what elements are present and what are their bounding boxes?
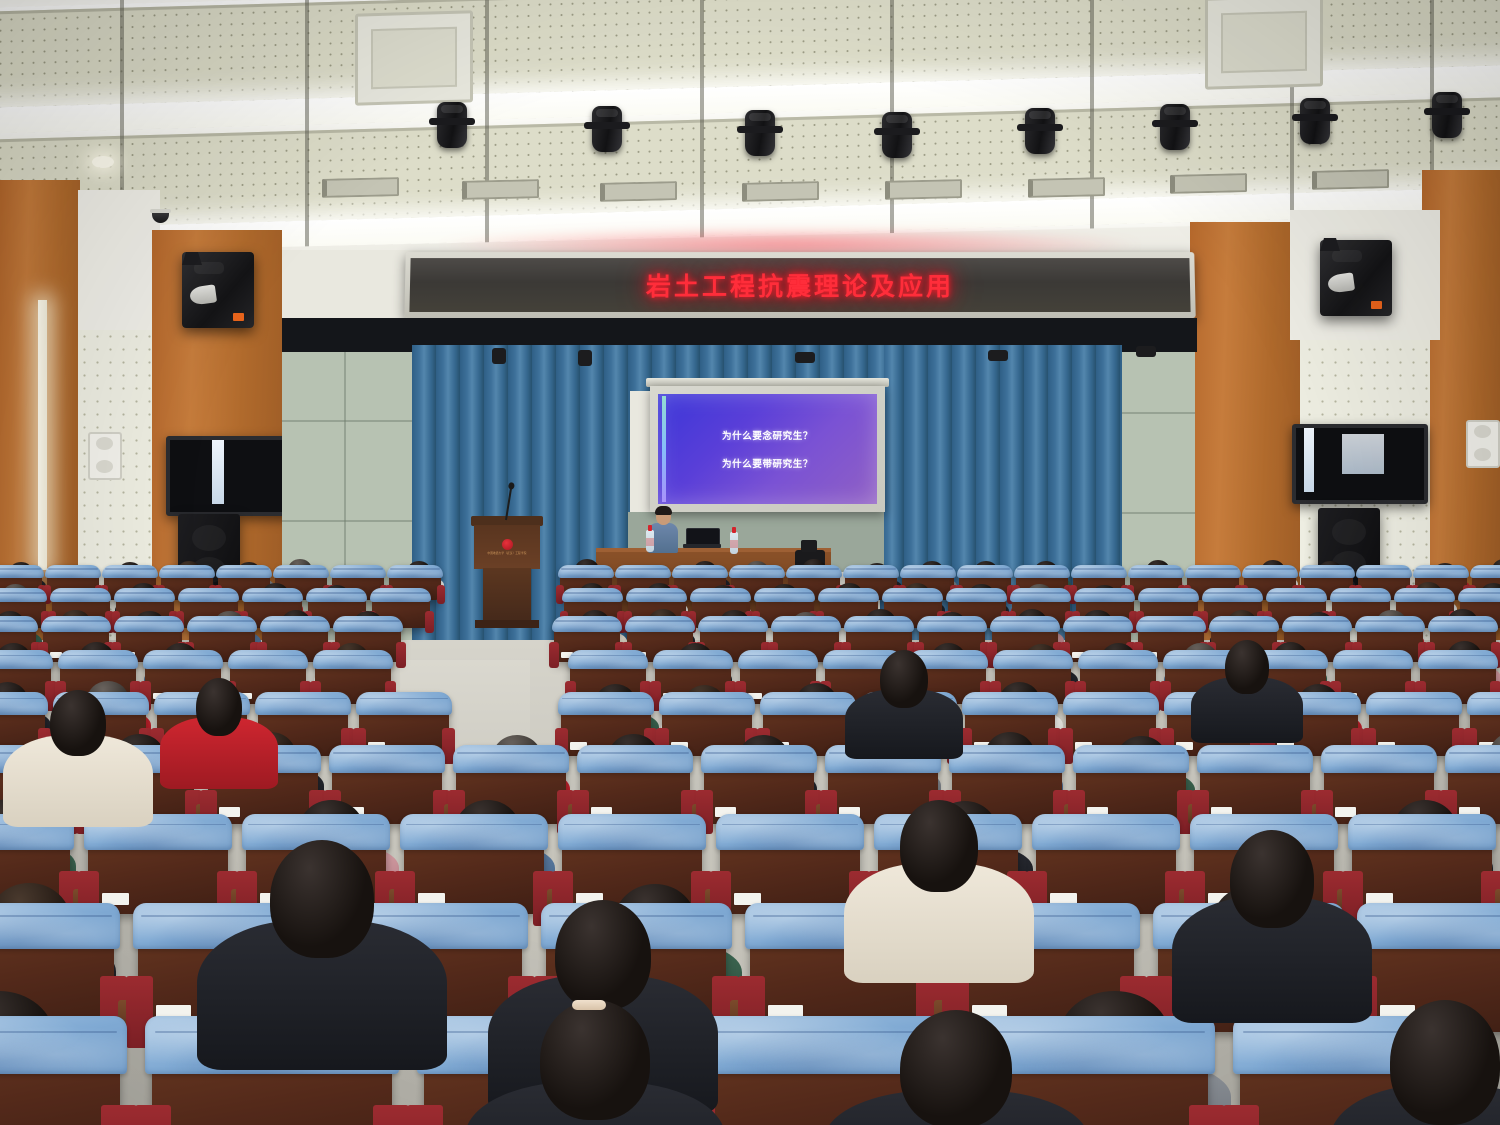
seat-headrest-cover <box>1418 650 1499 669</box>
seat-headrest-cover <box>1357 903 1500 949</box>
seat-headrest-cover <box>558 565 613 578</box>
seat-headrest-cover <box>577 745 694 773</box>
air-vent <box>1028 177 1105 198</box>
seat-headrest-cover <box>50 588 111 602</box>
seat-headrest-cover <box>255 692 350 715</box>
seat-headrest-cover <box>333 616 403 632</box>
curtain-rail-light <box>795 352 815 363</box>
seat-headrest-cover <box>387 565 442 578</box>
audience-member-foreground-head <box>540 1000 650 1120</box>
ceiling-grid-line <box>1090 0 1094 250</box>
seat-headrest-cover <box>1063 692 1158 715</box>
panel-seam <box>282 420 412 422</box>
audience-member-cream-coat-head <box>50 690 106 756</box>
seat-headrest-cover <box>771 616 841 632</box>
air-vent <box>600 181 677 202</box>
seat-headrest-cover <box>1128 565 1183 578</box>
stage-spotlight <box>1160 104 1190 150</box>
hair-clip <box>572 1000 606 1010</box>
seat-headrest-cover <box>41 616 111 632</box>
seat-headrest-cover <box>701 745 818 773</box>
podium-base <box>483 568 531 626</box>
ceiling-speaker-grille <box>1466 420 1500 468</box>
seat-headrest-cover <box>453 745 570 773</box>
monitor-screen-reflection <box>1304 428 1314 492</box>
seat-headrest-cover <box>178 588 239 602</box>
seat-headrest-cover <box>228 650 309 669</box>
ceiling-grid-line <box>305 0 309 250</box>
seat-headrest-cover <box>1467 692 1500 715</box>
seat-headrest-cover <box>356 692 451 715</box>
seat-headrest-cover <box>625 616 695 632</box>
vertical-light-strip <box>38 300 47 570</box>
jbl-logo-icon <box>1371 301 1382 309</box>
stage-spotlight <box>882 112 912 158</box>
seat-headrest-cover <box>273 565 328 578</box>
ac-cassette-icon <box>355 10 473 105</box>
ceiling-grid-line <box>700 0 704 250</box>
seat-headrest-cover <box>159 565 214 578</box>
seat-headrest-cover <box>1197 745 1314 773</box>
seat-headrest-cover <box>716 814 864 850</box>
audience-member-foreground-head <box>900 1010 1012 1125</box>
auditorium-seat[interactable] <box>404 818 544 914</box>
auditorium-seat[interactable] <box>88 818 228 914</box>
auditorium-seat[interactable] <box>1200 748 1310 824</box>
seat-headrest-cover <box>1010 588 1071 602</box>
seat-headrest-cover <box>844 616 914 632</box>
seat-side-upholstery <box>1189 1105 1225 1125</box>
stage-spotlight <box>437 102 467 148</box>
audience-member-foreground-head <box>1390 1000 1500 1125</box>
seat-headrest-cover <box>330 565 385 578</box>
ceiling-grid-line <box>485 0 489 250</box>
panel-seam <box>1120 412 1195 414</box>
air-vent <box>1312 169 1389 190</box>
seat-side-upholstery <box>396 642 406 668</box>
seat-headrest-cover <box>216 565 271 578</box>
podium: 中国地质大学（武汉）工程学院 <box>471 516 543 626</box>
auditorium-seat[interactable] <box>1036 818 1176 914</box>
seat-headrest-cover <box>1299 565 1354 578</box>
seat-headrest-cover <box>1242 565 1297 578</box>
slide-line-1: 为什么要念研究生？ <box>722 428 813 442</box>
seat-headrest-cover <box>917 616 987 632</box>
seat-headrest-cover <box>0 650 53 669</box>
seat-headrest-cover <box>1014 565 1069 578</box>
seat-headrest-cover <box>990 616 1060 632</box>
seat-headrest-cover <box>843 565 898 578</box>
presenter-laptop <box>683 528 721 548</box>
seat-headrest-cover <box>114 588 175 602</box>
panel-seam <box>1120 512 1195 514</box>
seat-headrest-cover <box>260 616 330 632</box>
jbl-speaker-right <box>1320 240 1392 316</box>
slide-line-2: 为什么要带研究生？ <box>722 456 813 470</box>
stage-spotlight <box>1025 108 1055 154</box>
podium-label: 中国地质大学（武汉）工程学院 <box>487 551 526 555</box>
curtain-rail-light <box>1136 346 1156 357</box>
seat-headrest-cover <box>1333 650 1414 669</box>
led-banner-panel: 岩土工程抗震理论及应用 <box>409 258 1190 312</box>
auditorium-seat[interactable] <box>1352 818 1492 914</box>
tripod-head <box>801 540 817 552</box>
seat-headrest-cover <box>690 588 751 602</box>
recessed-downlight <box>92 156 114 168</box>
seat-side-upholstery <box>135 1105 171 1125</box>
seat-headrest-cover <box>1458 588 1500 602</box>
seat-headrest-cover <box>946 588 1007 602</box>
seat-headrest-cover <box>672 565 727 578</box>
air-vent <box>322 177 399 198</box>
seat-headrest-cover <box>143 650 224 669</box>
seat-headrest-cover <box>1366 692 1461 715</box>
water-bottle <box>646 530 654 552</box>
seat-headrest-cover <box>562 588 623 602</box>
seat-headrest-cover <box>1063 616 1133 632</box>
seat-headrest-cover <box>1136 616 1206 632</box>
seat-headrest-cover <box>786 565 841 578</box>
auditorium-seat[interactable] <box>1448 748 1500 824</box>
seat-headrest-cover <box>1321 745 1438 773</box>
seat-side-upholstery <box>549 642 559 668</box>
air-vent <box>885 179 962 200</box>
seat-headrest-cover <box>313 650 394 669</box>
seat-headrest-cover <box>957 565 1012 578</box>
seat-headrest-cover <box>962 692 1057 715</box>
seat-headrest-cover <box>900 565 955 578</box>
auditorium-seat[interactable] <box>0 1022 120 1125</box>
audience-member-foreground-head <box>270 840 374 958</box>
podium-front-panel: 中国地质大学（武汉）工程学院 <box>474 525 540 569</box>
seat-headrest-cover <box>0 616 38 632</box>
audience-member-head <box>1225 640 1269 694</box>
led-banner-text: 岩土工程抗震理论及应用 <box>646 267 954 303</box>
speaker-horn <box>189 284 217 305</box>
audience-member-foreground-head <box>555 900 651 1010</box>
seat-headrest-cover <box>993 650 1074 669</box>
air-vent <box>1170 173 1247 194</box>
projected-slide: 为什么要念研究生？ 为什么要带研究生？ <box>658 394 877 504</box>
seat-headrest-cover <box>242 588 303 602</box>
seat-headrest-cover <box>1428 616 1498 632</box>
air-vent <box>742 181 819 202</box>
seat-side-upholstery <box>437 585 445 605</box>
seat-headrest-cover <box>1032 814 1180 850</box>
podium-foot <box>475 620 539 628</box>
seat-headrest-cover <box>0 588 47 602</box>
curtain-rail-light <box>578 350 592 366</box>
seat-headrest-cover <box>1355 616 1425 632</box>
seat-side-upholstery <box>1223 1105 1259 1125</box>
seat-headrest-cover <box>0 903 120 949</box>
wall-monitor-right[interactable] <box>1292 424 1428 504</box>
seat-headrest-cover <box>1470 565 1500 578</box>
seat-headrest-cover <box>1073 745 1190 773</box>
seat-headrest-cover <box>1356 565 1411 578</box>
seat-headrest-cover <box>659 692 754 715</box>
seat-headrest-cover <box>45 565 100 578</box>
seat-headrest-cover <box>1348 814 1496 850</box>
seat-headrest-cover <box>558 692 653 715</box>
institution-emblem-icon <box>502 539 513 550</box>
seat-headrest-cover <box>1185 565 1240 578</box>
seat-headrest-cover <box>400 814 548 850</box>
audience-member-red-hoodie-head <box>196 678 242 736</box>
seat-headrest-cover <box>729 565 784 578</box>
panel-seam <box>282 520 412 522</box>
seat-headrest-cover <box>58 650 139 669</box>
seat-headrest-cover <box>114 616 184 632</box>
seat-side-upholstery <box>407 1105 443 1125</box>
speaker-horn <box>1327 272 1355 293</box>
seat-headrest-cover <box>738 650 819 669</box>
seat-headrest-cover <box>1209 616 1279 632</box>
seat-headrest-cover <box>1445 745 1500 773</box>
auditorium-seat[interactable] <box>1076 748 1186 824</box>
seat-headrest-cover <box>1138 588 1199 602</box>
seat-headrest-cover <box>1071 565 1126 578</box>
seat-headrest-cover <box>558 814 706 850</box>
presenter-hair <box>655 506 672 515</box>
seat-headrest-cover <box>882 588 943 602</box>
seat-headrest-cover <box>949 745 1066 773</box>
seat-headrest-cover <box>0 1016 127 1074</box>
seat-headrest-cover <box>760 692 855 715</box>
seat-headrest-cover <box>306 588 367 602</box>
stage-spotlight <box>592 106 622 152</box>
projection-screen: 为什么要念研究生？ 为什么要带研究生？ <box>650 386 885 512</box>
seat-headrest-cover <box>698 616 768 632</box>
auditorium-seat[interactable] <box>704 748 814 824</box>
seat-headrest-cover <box>1074 588 1135 602</box>
seat-headrest-cover <box>552 616 622 632</box>
led-banner: 岩土工程抗震理论及应用 <box>404 252 1196 318</box>
seat-headrest-cover <box>1413 565 1468 578</box>
stage-spotlight <box>1432 92 1462 138</box>
seat-headrest-cover <box>1078 650 1159 669</box>
seat-headrest-cover <box>370 588 431 602</box>
seat-headrest-cover <box>568 650 649 669</box>
jbl-logo-icon <box>233 313 244 321</box>
seat-headrest-cover <box>818 588 879 602</box>
ac-cassette-icon <box>1205 0 1323 90</box>
ceiling <box>0 0 1500 250</box>
seat-headrest-cover <box>1202 588 1263 602</box>
seat-headrest-cover <box>1394 588 1455 602</box>
audience-member-head <box>1230 830 1314 928</box>
seat-headrest-cover <box>187 616 257 632</box>
audience-member-raising-hand-head <box>900 800 978 892</box>
seat-headrest-cover <box>626 588 687 602</box>
seat-headrest-cover <box>1330 588 1391 602</box>
monitor-screen-reflection <box>1342 434 1384 474</box>
screen-edge-glare <box>662 396 666 502</box>
monitor-screen-reflection <box>212 440 224 504</box>
auditorium-seat[interactable] <box>580 748 690 824</box>
curtain-rail-light <box>988 350 1008 361</box>
seat-headrest-cover <box>102 565 157 578</box>
stage-spotlight <box>745 110 775 156</box>
auditorium-seat[interactable] <box>720 818 860 914</box>
curtain-rail-light <box>492 348 506 364</box>
seat-side-upholstery <box>101 1105 137 1125</box>
seat-headrest-cover <box>653 650 734 669</box>
audience-member-head <box>880 650 928 708</box>
seat-headrest-cover <box>329 745 446 773</box>
laptop-keyboard <box>683 544 721 548</box>
seat-headrest-cover <box>1266 588 1327 602</box>
air-vent <box>462 179 539 200</box>
seat-headrest-cover <box>0 565 44 578</box>
seat-headrest-cover <box>615 565 670 578</box>
seat-side-upholstery <box>373 1105 409 1125</box>
ceiling-speaker-grille <box>88 432 122 480</box>
seat-headrest-cover <box>754 588 815 602</box>
seat-headrest-cover <box>0 692 48 715</box>
auditorium-photo: 岩土工程抗震理论及应用 为什么要念研究生？ 为什么要带研究生？ 中国地质大学（武… <box>0 0 1500 1125</box>
seat-headrest-cover <box>1282 616 1352 632</box>
seat-side-upholstery <box>425 611 434 633</box>
stage-spotlight <box>1300 98 1330 144</box>
water-bottle <box>730 532 738 554</box>
